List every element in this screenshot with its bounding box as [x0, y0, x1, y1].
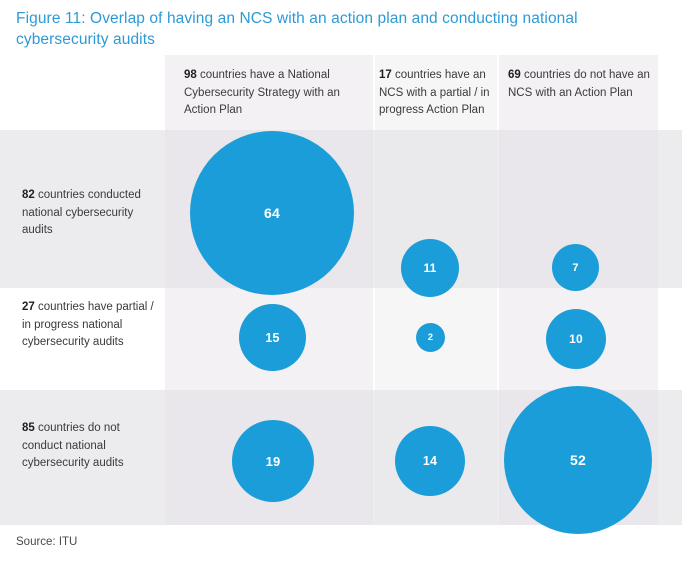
bubble-r2c1: 15 [239, 304, 306, 371]
column-header-1-text: countries have a National Cybersecurity … [184, 69, 340, 116]
bubble-r3c1: 19 [232, 420, 314, 502]
bubble-r2c3: 10 [546, 309, 606, 369]
row-header-3-count: 85 [22, 422, 35, 434]
bubble-r1c1-value: 64 [264, 205, 280, 221]
column-header-3-count: 69 [508, 69, 521, 81]
bubble-r1c3: 7 [552, 244, 599, 291]
column-header-2-text: countries have an NCS with a partial / i… [379, 69, 490, 116]
bubble-r1c1: 64 [190, 131, 354, 295]
bubble-r3c3: 52 [504, 386, 652, 534]
row-header-2-text: countries have partial / in progress nat… [22, 301, 154, 348]
bubble-r2c2: 2 [416, 323, 445, 352]
bubble-r1c3-value: 7 [572, 262, 578, 274]
row-header-1-text: countries conducted national cybersecuri… [22, 189, 141, 236]
bubble-r1c2-value: 11 [423, 261, 436, 275]
column-header-3-text: countries do not have an NCS with an Act… [508, 69, 650, 99]
bubble-r2c1-value: 15 [265, 331, 279, 345]
row-header-1: 82 countries conducted national cybersec… [22, 187, 162, 240]
bubble-r2c3-value: 10 [569, 332, 583, 346]
row-header-2-count: 27 [22, 301, 35, 313]
row-header-3-text: countries do not conduct national cybers… [22, 422, 124, 469]
column-header-2: 17 countries have an NCS with a partial … [379, 67, 493, 120]
source-note: Source: ITU [16, 536, 77, 548]
bubble-r3c1-value: 19 [266, 454, 281, 469]
bubble-r3c3-value: 52 [570, 452, 586, 468]
row-header-2: 27 countries have partial / in progress … [22, 299, 162, 352]
column-header-1: 98 countries have a National Cybersecuri… [184, 67, 356, 120]
page-title: Figure 11: Overlap of having an NCS with… [16, 8, 666, 50]
column-header-3: 69 countries do not have an NCS with an … [508, 67, 650, 102]
row-header-1-count: 82 [22, 189, 35, 201]
column-header-1-count: 98 [184, 69, 197, 81]
column-header-2-count: 17 [379, 69, 392, 81]
bubble-r2c2-value: 2 [428, 332, 433, 343]
bubble-r3c2: 14 [395, 426, 465, 496]
bubble-r3c2-value: 14 [423, 454, 437, 468]
row-header-3: 85 countries do not conduct national cyb… [22, 420, 162, 473]
bubble-r1c2: 11 [401, 239, 459, 297]
bubble-matrix-chart: 98 countries have a National Cybersecuri… [0, 55, 682, 525]
